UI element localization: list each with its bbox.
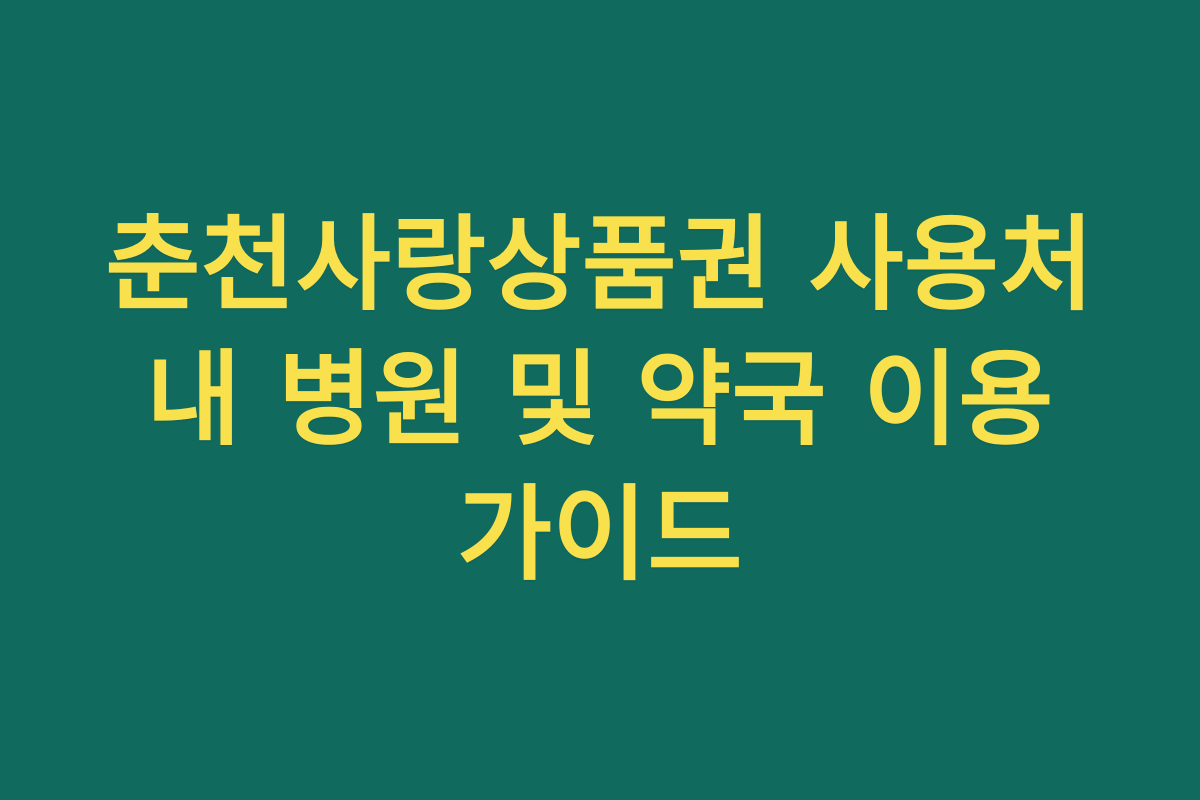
page-title: 춘천사랑상품권 사용처 내 병원 및 약국 이용 가이드 — [95, 198, 1105, 603]
title-card-banner: 춘천사랑상품권 사용처 내 병원 및 약국 이용 가이드 — [0, 0, 1200, 800]
title-block: 춘천사랑상품권 사용처 내 병원 및 약국 이용 가이드 — [95, 198, 1105, 603]
